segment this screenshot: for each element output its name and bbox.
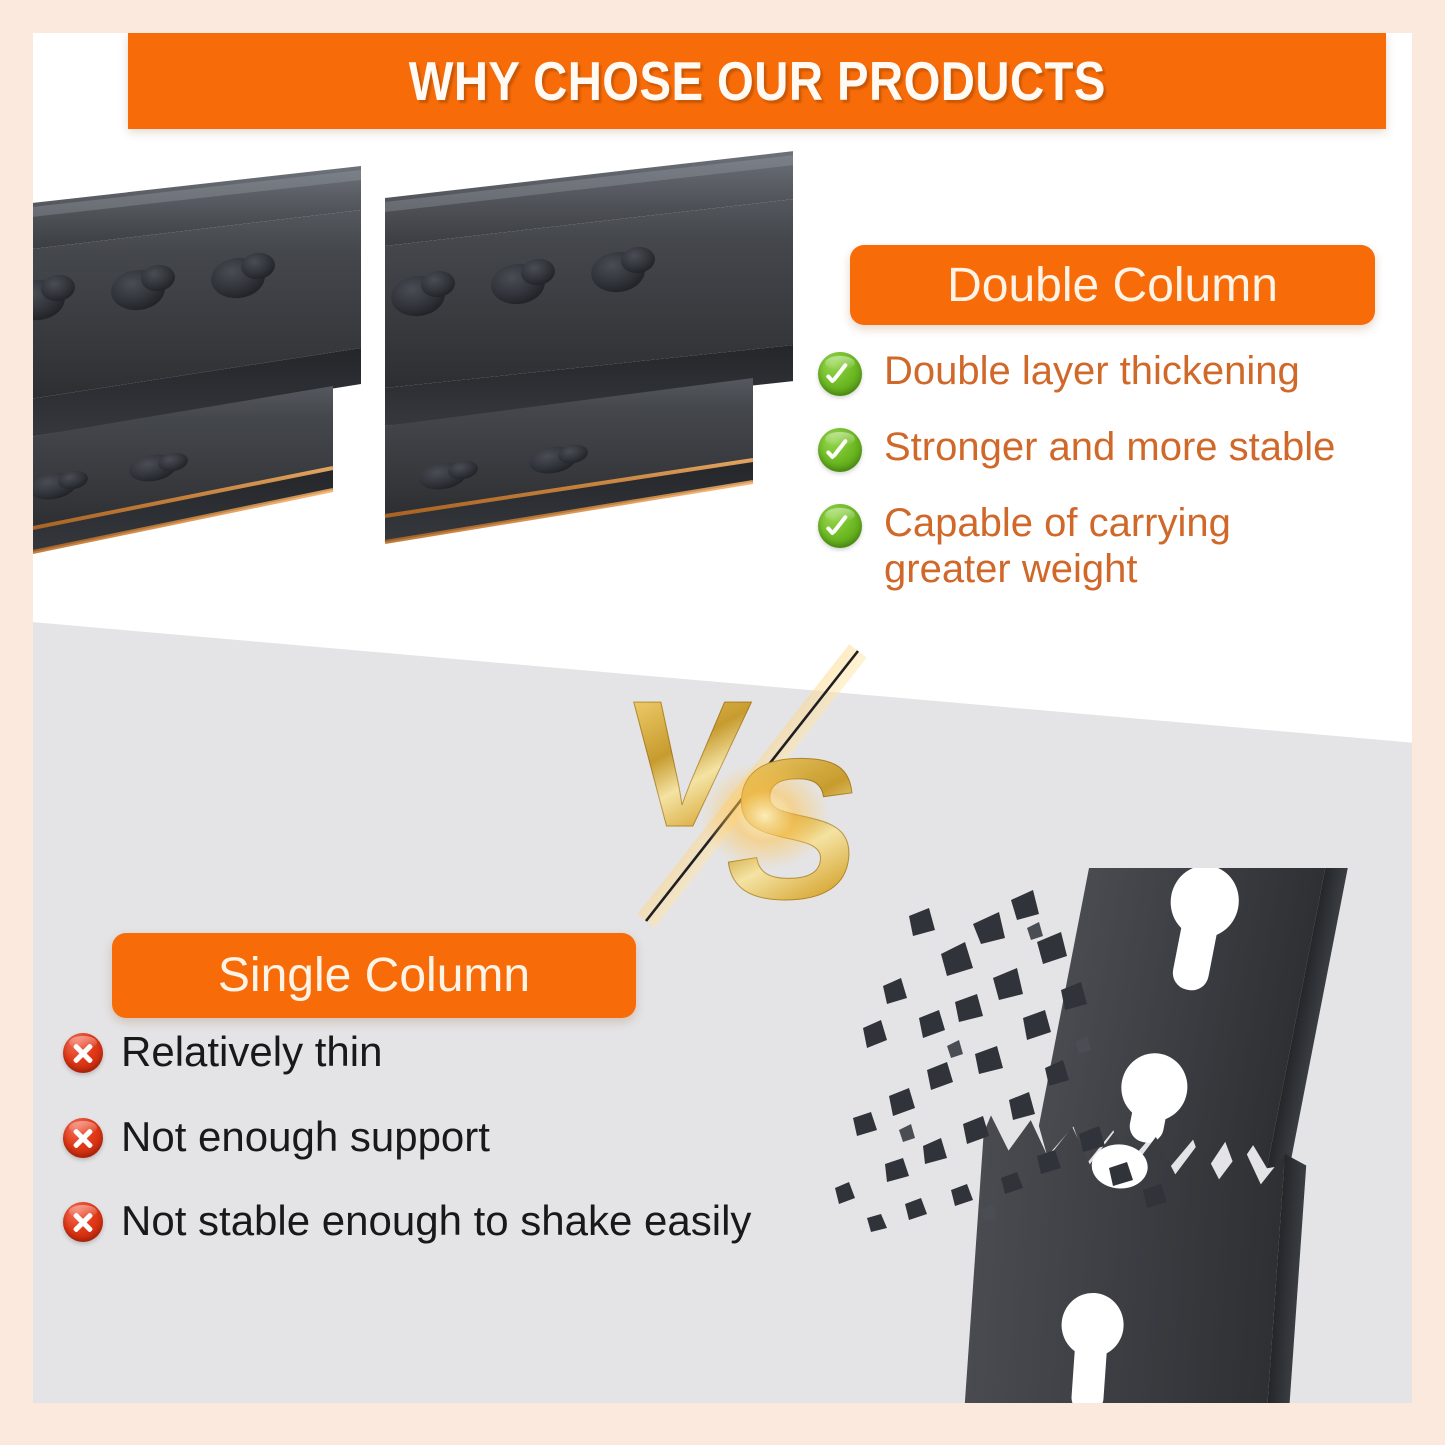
double-column-badge-label: Double Column [947, 258, 1278, 313]
infographic-page: V S WHY CHOSE OUR PRODUCTS Double Column… [0, 0, 1445, 1445]
cross-circle-icon [63, 1033, 103, 1073]
double-column-badge: Double Column [850, 245, 1375, 325]
list-item-label: Relatively thin [121, 1028, 382, 1077]
list-item: Not stable enough to shake easily [63, 1197, 863, 1246]
versus-letter-s: S [714, 715, 872, 945]
list-item: Double layer thickening [818, 348, 1388, 396]
list-item-label: Not enough support [121, 1113, 490, 1162]
cross-circle-icon [63, 1202, 103, 1242]
content-canvas: V S WHY CHOSE OUR PRODUCTS Double Column… [33, 33, 1412, 1403]
cross-circle-icon [63, 1118, 103, 1158]
versus-letters: V S [608, 633, 938, 933]
double-column-beam-photo [33, 138, 793, 578]
list-item: Not enough support [63, 1113, 863, 1162]
list-item-label: Double layer thickening [884, 348, 1300, 394]
page-title: WHY CHOSE OUR PRODUCTS [408, 49, 1105, 113]
header-banner: WHY CHOSE OUR PRODUCTS [128, 33, 1386, 129]
check-circle-icon [818, 352, 862, 396]
list-item: Stronger and more stable [818, 424, 1388, 472]
list-item: Capable of carrying greater weight [818, 500, 1388, 593]
list-item-label: Stronger and more stable [884, 424, 1335, 470]
single-column-badge: Single Column [112, 933, 636, 1018]
list-item-label: Capable of carrying greater weight [884, 500, 1284, 593]
list-item-label: Not stable enough to shake easily [121, 1197, 751, 1246]
single-column-drawbacks-list: Relatively thin Not enough support Not s… [63, 1028, 863, 1282]
double-column-benefits-list: Double layer thickening Stronger and mor… [818, 348, 1388, 621]
check-circle-icon [818, 428, 862, 472]
list-item: Relatively thin [63, 1028, 863, 1077]
check-circle-icon [818, 504, 862, 548]
versus-graphic: V S [608, 633, 938, 933]
single-column-badge-label: Single Column [218, 948, 530, 1003]
broken-beam-photo [823, 868, 1412, 1403]
